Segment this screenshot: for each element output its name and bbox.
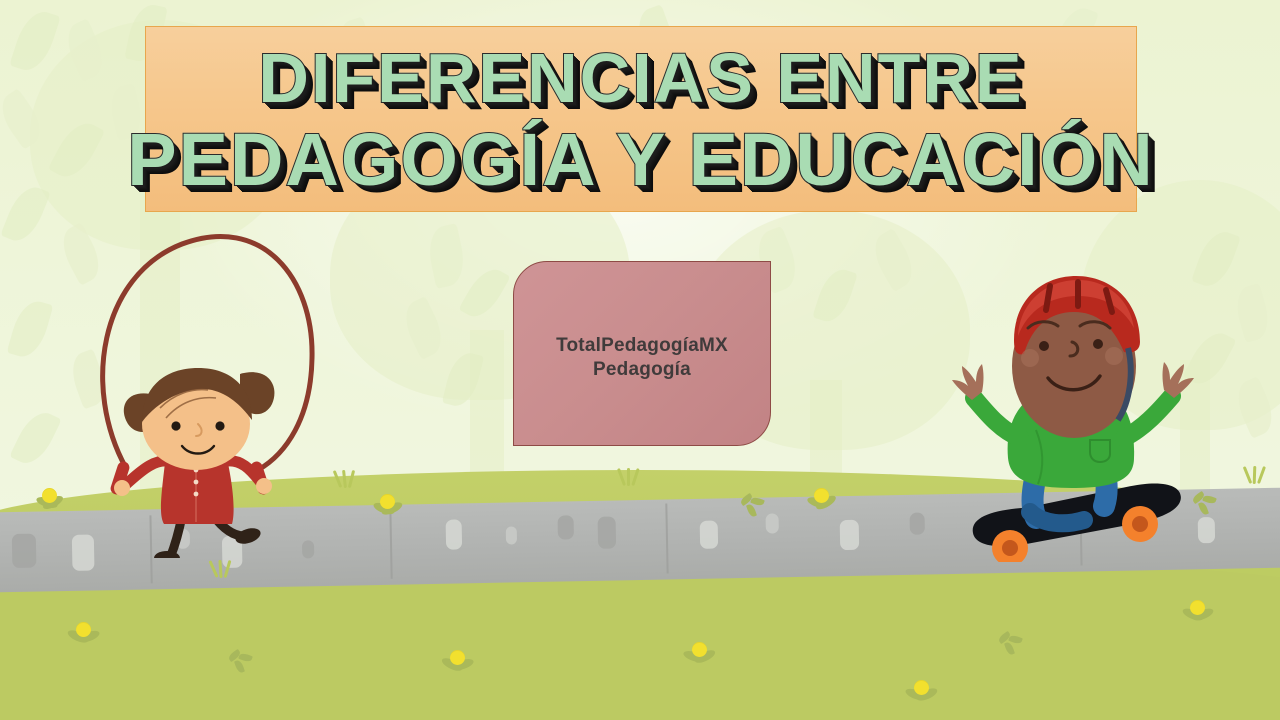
title-banner: DIFERENCIAS ENTRE PEDAGOGÍA Y EDUCACIÓN [145,26,1137,212]
boy-on-skateboard-illustration [932,262,1222,562]
road-stone [598,516,617,548]
road-stone [840,520,860,550]
road-stone [766,513,779,533]
title-line-1: DIFERENCIAS ENTRE [258,37,1023,119]
content-box-line-2: Pedagogía [556,358,728,382]
boy-on-skateboard-svg [932,262,1222,562]
road-stone [558,515,574,539]
road-stone [700,521,719,549]
road-stone [12,534,37,568]
slide-canvas: DIFERENCIAS ENTRE PEDAGOGÍA Y EDUCACIÓN … [0,0,1280,720]
content-box-text: TotalPedagogíaMX Pedagogía [556,334,728,382]
title-line-2: PEDAGOGÍA Y EDUCACIÓN [127,119,1154,201]
girl-jumping-rope-svg [62,218,332,558]
road-stone [910,513,925,535]
girl-jumping-rope-illustration [62,218,332,558]
content-box[interactable]: TotalPedagogíaMX Pedagogía [513,261,771,446]
content-box-line-1: TotalPedagogíaMX [556,334,728,358]
road-stone [506,526,517,544]
road-seam [665,503,668,573]
road-stone [446,519,463,549]
road-seam [389,507,392,579]
